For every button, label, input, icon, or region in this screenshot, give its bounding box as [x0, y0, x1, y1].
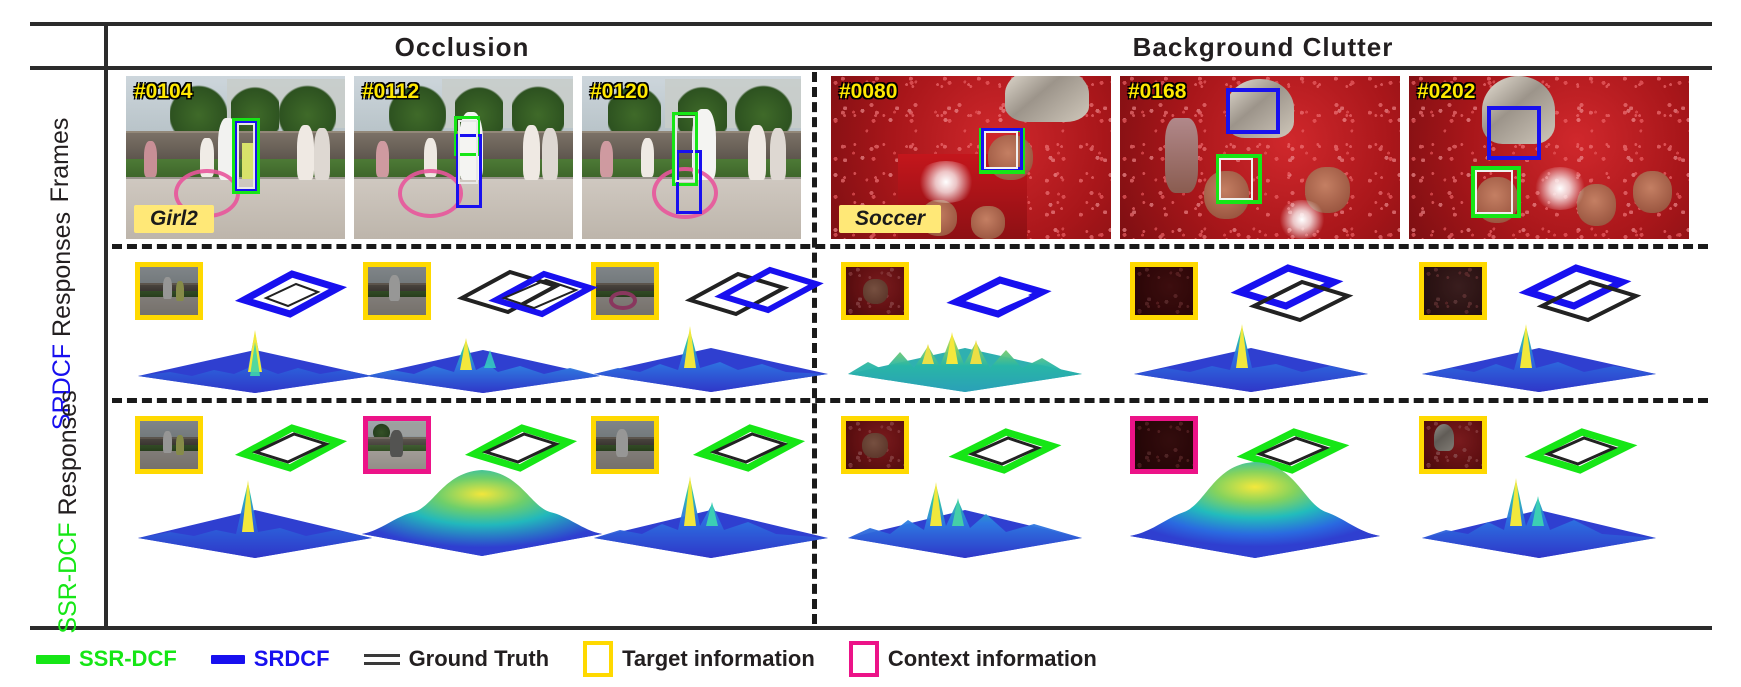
column-header-background-clutter: Background Clutter — [818, 32, 1708, 63]
rule-header-bottom — [30, 66, 1712, 70]
legend-label-ssr-dcf: SSR-DCF — [79, 646, 177, 672]
frame-cell-0104[interactable]: #0104 Girl2 — [126, 76, 345, 239]
frame-number-0104: #0104 — [134, 80, 192, 104]
rule-bottom — [30, 626, 1712, 630]
response-surface-ssrdcf-0080 — [840, 464, 1090, 560]
legend-line-ssr-dcf-icon — [36, 655, 70, 664]
legend-label-ground-truth: Ground Truth — [409, 646, 550, 672]
legend-box-target-icon — [583, 641, 613, 677]
bbox-ground-truth — [984, 131, 1018, 169]
response-surface-ssrdcf-0112 — [352, 456, 612, 560]
row-label-ssrdcf-text: Responses — [54, 390, 83, 515]
legend-label-srdcf: SRDCF — [254, 646, 330, 672]
response-surface-srdcf-0202 — [1414, 310, 1664, 394]
frame-number-0112: #0112 — [362, 80, 419, 104]
response-surface-srdcf-0168 — [1126, 310, 1376, 394]
legend-item-target-information: Target information — [583, 641, 815, 677]
thumbnail-srdcf-0104[interactable] — [135, 262, 203, 320]
frame-cell-0112[interactable]: #0112 — [354, 76, 573, 239]
wireframe-srdcf-0112 — [452, 264, 602, 324]
response-surface-ssrdcf-0202 — [1414, 464, 1664, 560]
row-label-frames-text: Frames — [46, 118, 75, 203]
rule-top — [30, 22, 1712, 26]
frame-number-0120: #0120 — [590, 80, 648, 104]
row-label-ssrdcf: SSR-DCF Responses — [48, 397, 88, 627]
bbox-ground-truth — [458, 120, 478, 184]
legend-item-srdcf: SRDCF — [211, 646, 330, 672]
frame-number-0168: #0168 — [1128, 80, 1186, 104]
row-separator-frames-srdcf — [112, 244, 1708, 249]
bbox-ground-truth — [1219, 158, 1253, 200]
response-surface-srdcf-0080 — [840, 312, 1090, 394]
wireframe-srdcf-0104 — [226, 266, 356, 322]
frame-number-0202: #0202 — [1417, 80, 1475, 104]
legend-item-ssr-dcf: SSR-DCF — [36, 646, 177, 672]
sequence-tag-soccer: Soccer — [839, 205, 941, 233]
response-surface-srdcf-0120 — [586, 310, 836, 394]
frame-cell-0080[interactable]: #0080 Soccer — [831, 76, 1111, 239]
bbox-ground-truth — [237, 123, 255, 189]
frame-cell-0168[interactable]: #0168 — [1120, 76, 1400, 239]
bbox-srdcf — [1487, 106, 1541, 160]
frame-cell-0202[interactable]: #0202 — [1409, 76, 1689, 239]
response-surface-ssrdcf-0104 — [130, 468, 380, 560]
legend-item-ground-truth: Ground Truth — [364, 646, 550, 672]
row-separator-srdcf-ssrdcf — [112, 398, 1708, 403]
legend-box-context-icon — [849, 641, 879, 677]
rule-label-column — [104, 22, 108, 630]
row-label-ssrdcf-method: SSR-DCF — [54, 522, 83, 633]
legend-label-target-information: Target information — [622, 646, 815, 672]
bbox-ground-truth — [675, 116, 695, 182]
thumbnail-srdcf-0112[interactable] — [363, 262, 431, 320]
figure-root: Occlusion Background Clutter Frames SRDC… — [0, 0, 1741, 687]
legend-double-line-ground-truth-icon — [364, 654, 400, 665]
legend-item-context-information: Context information — [849, 641, 1097, 677]
thumbnail-ssrdcf-0104[interactable] — [135, 416, 203, 474]
legend: SSR-DCF SRDCF Ground Truth Target inform… — [36, 641, 1097, 677]
bbox-ground-truth — [1475, 170, 1513, 214]
response-surface-ssrdcf-0168 — [1120, 452, 1390, 562]
legend-label-context-information: Context information — [888, 646, 1097, 672]
response-surface-srdcf-0112 — [358, 316, 608, 394]
frame-number-0080: #0080 — [839, 80, 897, 104]
sequence-tag-girl2: Girl2 — [134, 205, 214, 233]
response-surface-srdcf-0104 — [130, 316, 380, 394]
response-surface-ssrdcf-0120 — [586, 464, 836, 560]
row-label-srdcf-text: Responses — [48, 212, 77, 337]
column-header-occlusion: Occlusion — [112, 32, 812, 63]
bbox-srdcf — [1226, 88, 1280, 134]
legend-line-srdcf-icon — [211, 655, 245, 664]
frame-cell-0120[interactable]: #0120 — [582, 76, 801, 239]
